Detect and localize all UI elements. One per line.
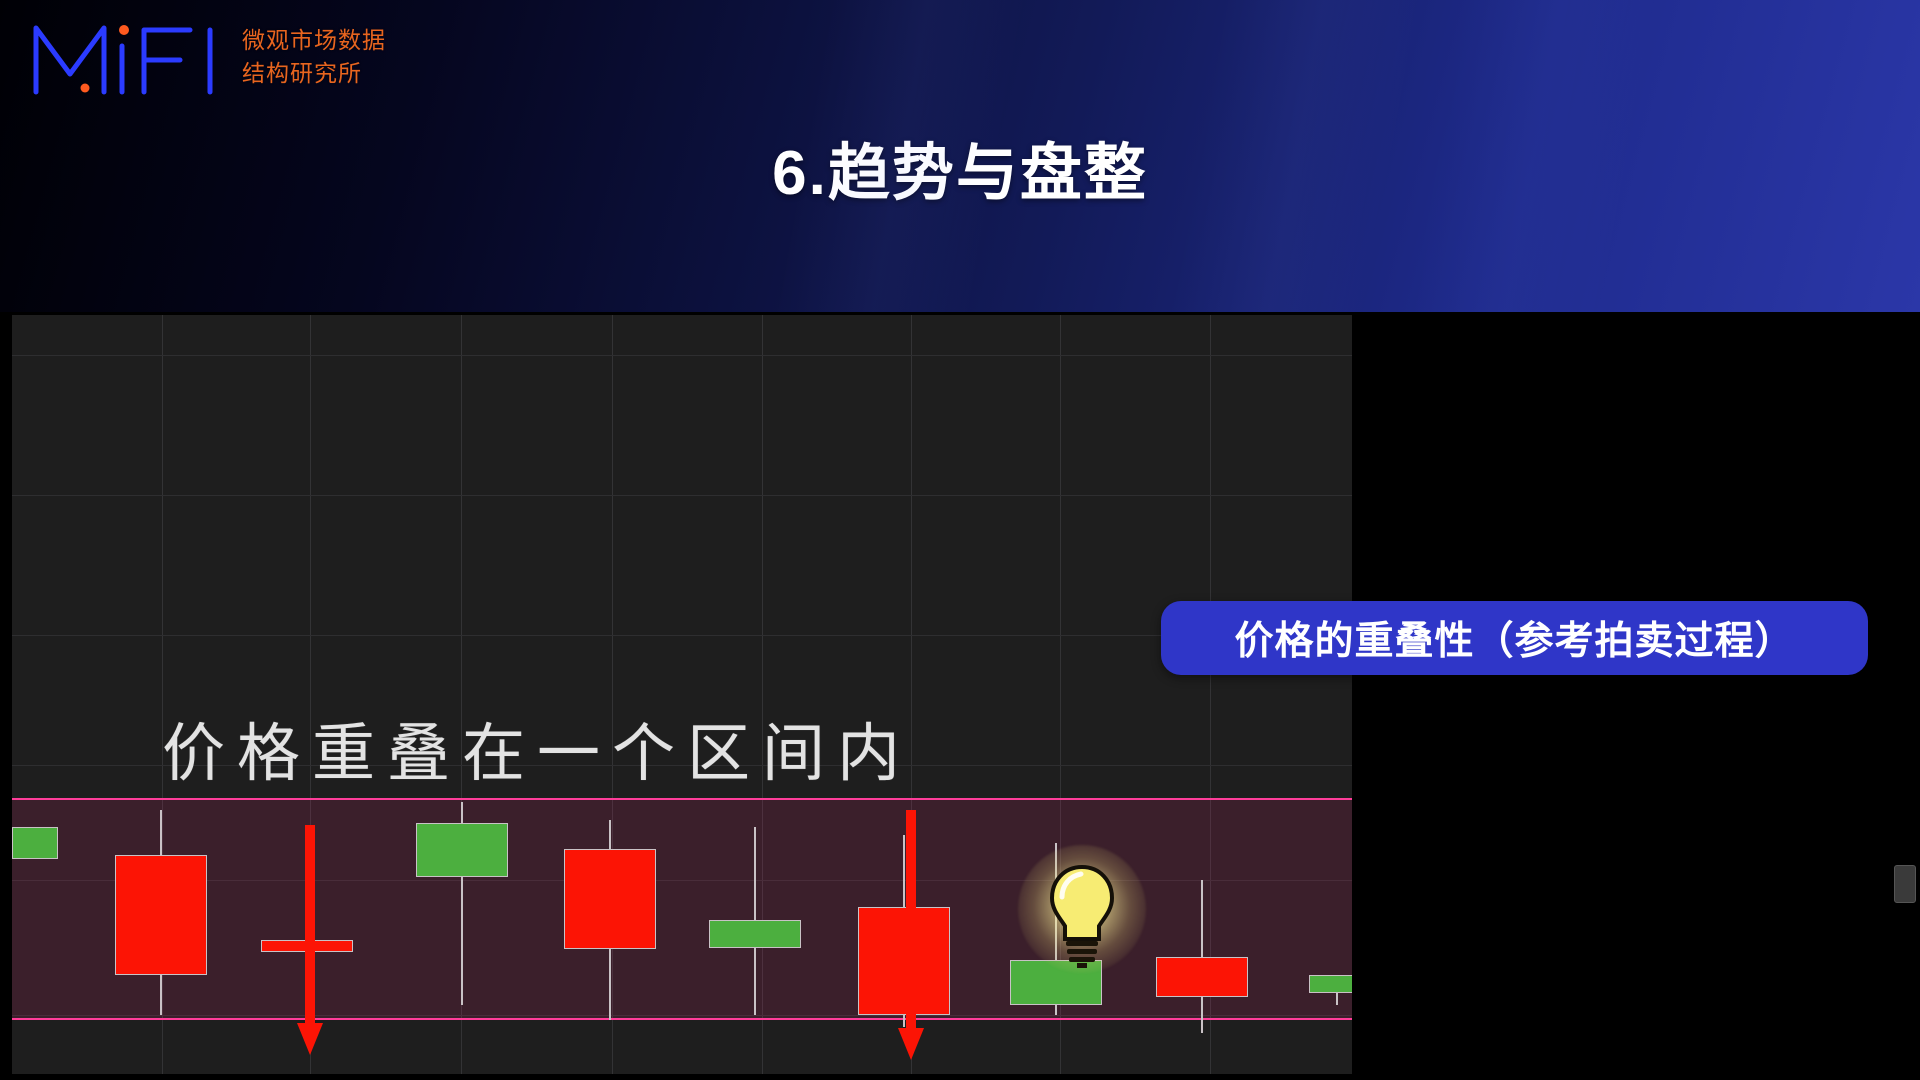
org-name: 微观市场数据 结构研究所 bbox=[242, 24, 386, 91]
vertical-scrollbar-thumb[interactable] bbox=[1894, 865, 1916, 903]
arrow-shaft bbox=[305, 825, 315, 1023]
candle-body bbox=[1309, 975, 1352, 993]
mifi-logo-icon bbox=[30, 18, 220, 96]
candle-body bbox=[564, 849, 656, 949]
org-name-line2: 结构研究所 bbox=[242, 57, 386, 90]
horizontal-gridline bbox=[12, 495, 1352, 496]
arrow-head bbox=[297, 1023, 323, 1055]
slide-header: 微观市场数据 结构研究所 6.趋势与盘整 bbox=[0, 0, 1920, 312]
arrow-right bbox=[898, 810, 924, 1060]
candle-0-up bbox=[12, 315, 58, 1080]
candle-9-up bbox=[1309, 315, 1352, 1080]
candle-body bbox=[115, 855, 207, 975]
arrow-left bbox=[297, 825, 323, 1055]
horizontal-gridline bbox=[12, 355, 1352, 356]
left-gutter bbox=[0, 315, 12, 1080]
callout-pill: 价格的重叠性（参考拍卖过程） bbox=[1161, 601, 1868, 675]
horizontal-gridline bbox=[12, 635, 1352, 636]
candle-body bbox=[12, 827, 58, 859]
consolidation-range-box bbox=[12, 798, 1352, 1020]
bottom-gutter bbox=[0, 1074, 1920, 1080]
candlestick-chart[interactable]: 价格重叠在一个区间内 bbox=[12, 315, 1352, 1080]
candle-8-down bbox=[1156, 315, 1248, 1080]
candle-body bbox=[709, 920, 801, 948]
candle-body bbox=[416, 823, 508, 877]
brand-block: 微观市场数据 结构研究所 bbox=[30, 18, 386, 96]
page-title: 6.趋势与盘整 bbox=[0, 122, 1920, 212]
candle-body bbox=[1156, 957, 1248, 997]
candle-3-up bbox=[416, 315, 508, 1080]
lightbulb-glyph bbox=[1046, 863, 1118, 969]
candle-4-down bbox=[564, 315, 656, 1080]
callout-label: 价格的重叠性（参考拍卖过程） bbox=[1234, 610, 1794, 666]
candle-1-down bbox=[115, 315, 207, 1080]
right-blank-area bbox=[1352, 315, 1920, 1080]
org-name-line1: 微观市场数据 bbox=[242, 24, 386, 57]
handwritten-annotation: 价格重叠在一个区间内 bbox=[162, 703, 912, 794]
arrow-shaft bbox=[906, 810, 916, 1028]
lightbulb-icon bbox=[1018, 845, 1146, 985]
candle-5-up bbox=[709, 315, 801, 1080]
arrow-head bbox=[898, 1028, 924, 1060]
